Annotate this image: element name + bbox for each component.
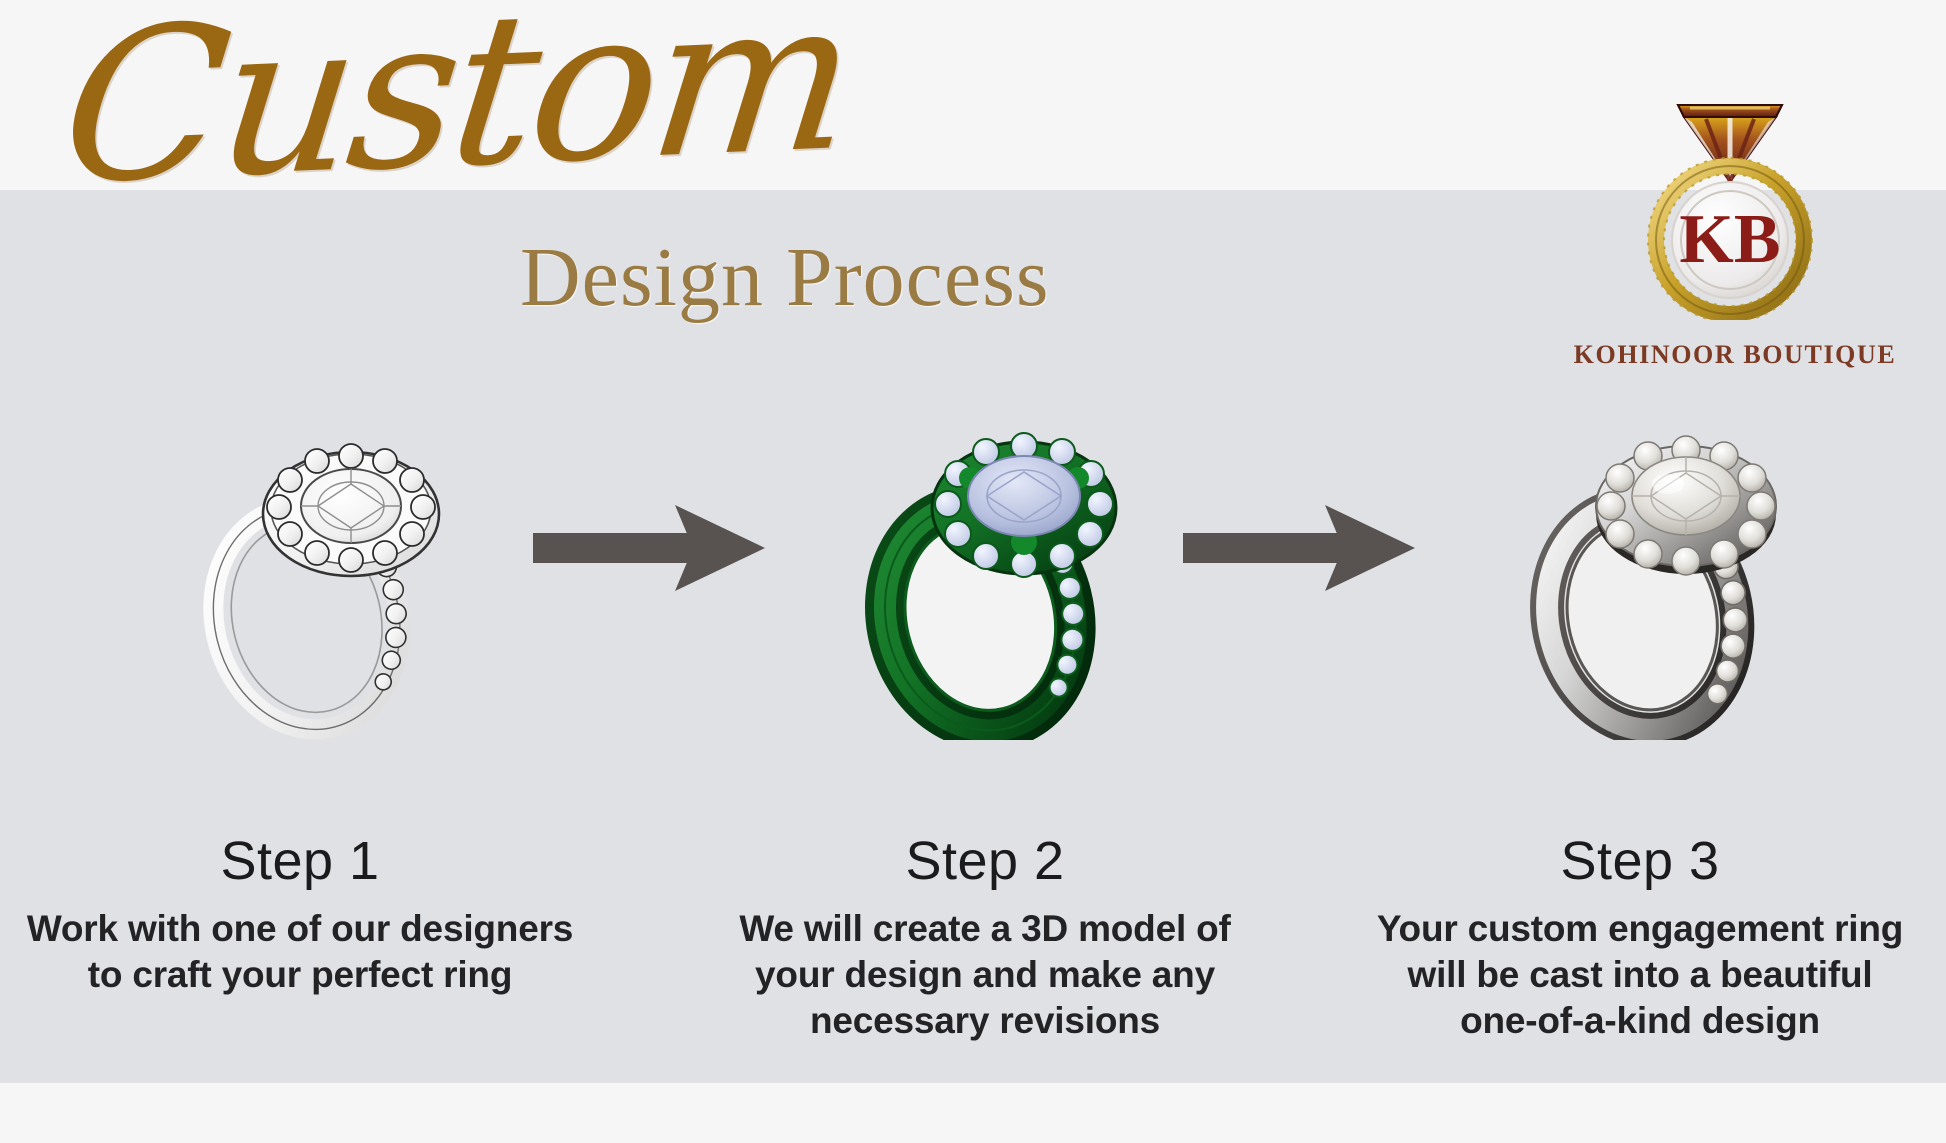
steps-graphics-row	[0, 410, 1946, 740]
step-3-ring-image	[1490, 410, 1820, 740]
step-1-ring-image	[155, 410, 485, 740]
step-3-line-3: one-of-a-kind design	[1320, 998, 1946, 1044]
step-3-caption: Step 3 Your custom engagement ring will …	[1320, 830, 1946, 1044]
step-3-description: Your custom engagement ring will be cast…	[1320, 906, 1946, 1044]
diamond-ring-logo-icon: KB	[1580, 70, 1880, 320]
ring-finished-diamond-silver-icon	[1490, 410, 1820, 740]
step-1-description: Work with one of our designers to craft …	[0, 906, 620, 998]
page-subtitle-serif: Design Process	[520, 228, 1120, 338]
logo-monogram-text: KB	[1679, 201, 1780, 278]
step-3-line-1: Your custom engagement ring	[1320, 906, 1946, 952]
step-1-line-2: to craft your perfect ring	[0, 952, 620, 998]
custom-design-process-poster: Custom Design Process	[0, 0, 1946, 1143]
page-title-script: Custom	[50, 0, 803, 244]
brand-logo: KB	[1580, 70, 1880, 320]
ring-3d-model-green-icon	[830, 410, 1160, 740]
step-2-title: Step 2	[665, 830, 1305, 892]
step-2-caption: Step 2 We will create a 3D model of your…	[665, 830, 1305, 1044]
step-1-caption: Step 1 Work with one of our designers to…	[0, 830, 620, 998]
step-2-ring-image	[830, 410, 1160, 740]
arrow-right-icon	[1175, 495, 1425, 605]
arrow-step1-to-step2	[525, 495, 775, 605]
ring-sketch-white-halo-icon	[155, 410, 485, 740]
arrow-right-icon	[525, 495, 775, 605]
step-3-line-2: will be cast into a beautiful	[1320, 952, 1946, 998]
step-2-line-2: your design and make any	[665, 952, 1305, 998]
step-2-description: We will create a 3D model of your design…	[665, 906, 1305, 1044]
step-1-title: Step 1	[0, 830, 620, 892]
step-2-line-1: We will create a 3D model of	[665, 906, 1305, 952]
background-band-bottom	[0, 1083, 1946, 1143]
step-2-line-3: necessary revisions	[665, 998, 1305, 1044]
step-3-title: Step 3	[1320, 830, 1946, 892]
brand-name-text: KOHINOOR BOUTIQUE	[1540, 340, 1930, 370]
arrow-step2-to-step3	[1175, 495, 1425, 605]
step-1-line-1: Work with one of our designers	[0, 906, 620, 952]
